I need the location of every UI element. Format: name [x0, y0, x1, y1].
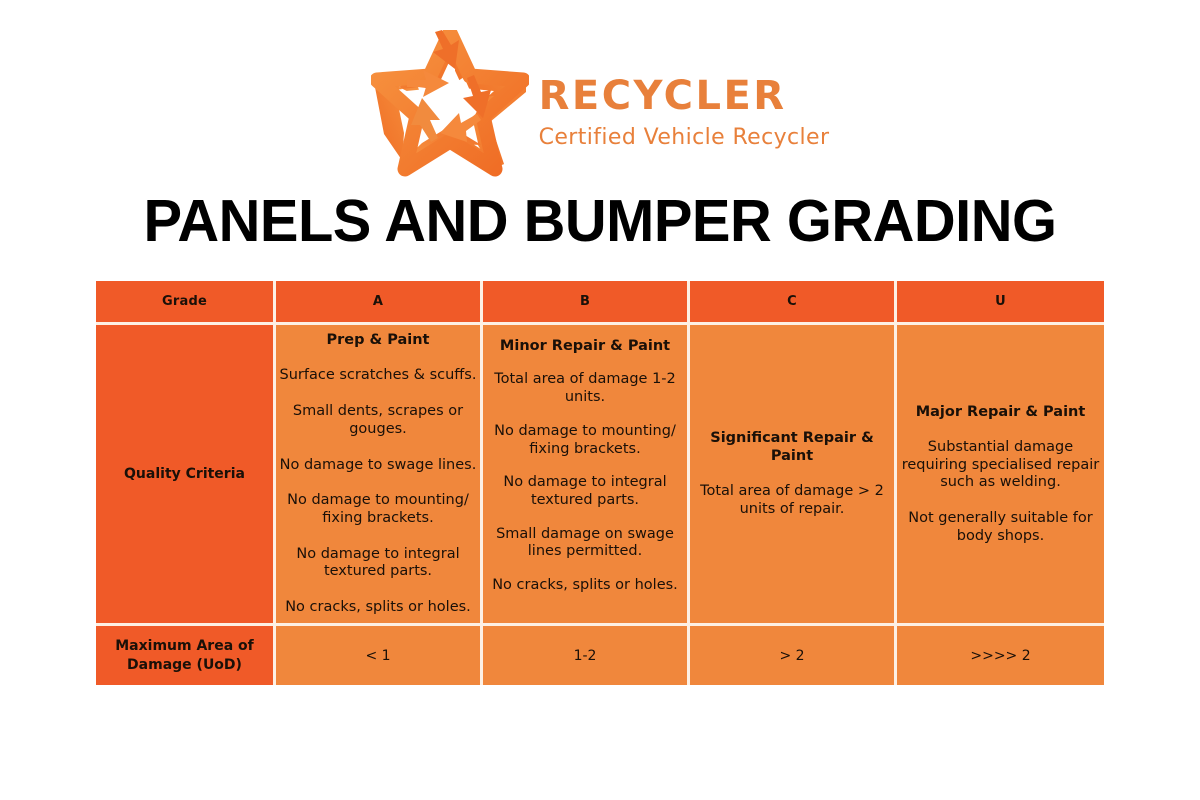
cell-line: Substantial damage requiring specialised…: [897, 439, 1104, 492]
column-header-grade: Grade: [96, 281, 276, 325]
cell-line: No damage to mounting/ fixing brackets.: [483, 423, 687, 458]
brand-name: RECYCLER: [539, 76, 830, 116]
cell-criteria-a: Prep & Paint Surface scratches & scuffs.…: [276, 325, 483, 626]
recycling-star-icon: [371, 30, 529, 178]
cell-heading: Minor Repair & Paint: [500, 337, 670, 355]
cell-heading: Major Repair & Paint: [916, 403, 1086, 421]
cell-maxarea-b: 1-2: [483, 626, 690, 685]
column-header-b: B: [483, 281, 690, 325]
cell-line: No cracks, splits or holes.: [492, 577, 678, 595]
column-header-c: C: [690, 281, 897, 325]
column-header-a: A: [276, 281, 483, 325]
cell-line: No damage to integral textured parts.: [276, 546, 480, 581]
brand-wordmark: RECYCLER Certified Vehicle Recycler: [539, 60, 830, 149]
brand-logo: RECYCLER Certified Vehicle Recycler: [0, 28, 1200, 180]
brand-tagline: Certified Vehicle Recycler: [539, 127, 830, 149]
grading-table: Grade A B C U Quality Criteria Prep & Pa…: [96, 281, 1104, 685]
cell-maxarea-u: >>>> 2: [897, 626, 1104, 685]
cell-line: Total area of damage 1-2 units.: [483, 371, 687, 406]
row-label-quality-criteria: Quality Criteria: [96, 325, 276, 626]
cell-line: Small dents, scrapes or gouges.: [276, 403, 480, 438]
cell-line: No damage to swage lines.: [280, 457, 477, 475]
cell-line: No cracks, splits or holes.: [285, 599, 471, 617]
table-row-quality-criteria: Quality Criteria Prep & Paint Surface sc…: [96, 325, 1104, 626]
cell-criteria-c: Significant Repair & Paint Total area of…: [690, 325, 897, 626]
cell-line: Small damage on swage lines permitted.: [483, 526, 687, 561]
column-header-u: U: [897, 281, 1104, 325]
cell-heading: Prep & Paint: [327, 331, 430, 349]
cell-heading: Significant Repair & Paint: [690, 429, 894, 465]
cell-maxarea-a: < 1: [276, 626, 483, 685]
row-label-maximum-area: Maximum Area of Damage (UoD): [96, 626, 276, 685]
page-title: PANELS AND BUMPER GRADING: [12, 192, 1188, 251]
cell-line: Total area of damage > 2 units of repair…: [690, 483, 894, 518]
cell-criteria-u: Major Repair & Paint Substantial damage …: [897, 325, 1104, 626]
table-header-row: Grade A B C U: [96, 281, 1104, 325]
cell-criteria-b: Minor Repair & Paint Total area of damag…: [483, 325, 690, 626]
cell-line: No damage to mounting/ fixing brackets.: [276, 492, 480, 527]
cell-line: Surface scratches & scuffs.: [280, 367, 477, 385]
cell-line: No damage to integral textured parts.: [483, 474, 687, 509]
cell-maxarea-c: > 2: [690, 626, 897, 685]
table-row-maximum-area: Maximum Area of Damage (UoD) < 1 1-2 > 2…: [96, 626, 1104, 685]
cell-line: Not generally suitable for body shops.: [897, 510, 1104, 545]
